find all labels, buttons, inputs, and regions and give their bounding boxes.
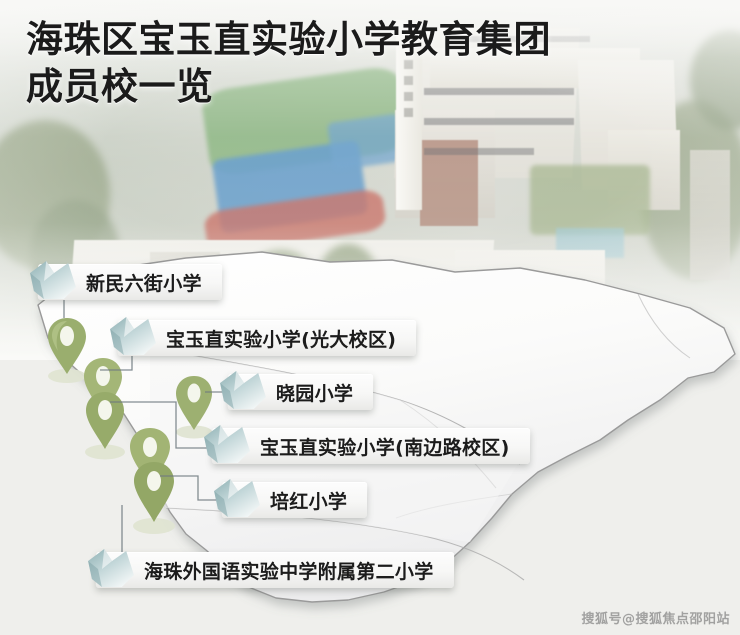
label-chip-text: 新民六街小学 xyxy=(86,269,202,296)
label-chip-text: 培红小学 xyxy=(270,487,347,514)
label-chip-xinmin[interactable]: 新民六街小学 xyxy=(38,264,222,300)
pin-hole xyxy=(96,366,110,386)
pin-hole xyxy=(98,400,112,420)
map-pin-marker[interactable] xyxy=(128,456,180,536)
label-chip-baoyuzhi-nanbianlu[interactable]: 宝玉直实验小学(南边路校区) xyxy=(212,428,530,464)
watermark: 搜狐号@搜狐焦点邵阳站 xyxy=(581,608,730,627)
ribbon-flag-icon xyxy=(228,374,274,410)
label-chip-text: 宝玉直实验小学(南边路校区) xyxy=(260,433,510,460)
ribbon-flag-icon xyxy=(38,264,84,300)
pin-hole xyxy=(143,437,157,457)
label-chip-baoyuzhi-guangda[interactable]: 宝玉直实验小学(光大校区) xyxy=(118,320,417,356)
page-title-line-1: 海珠区宝玉直实验小学教育集团 xyxy=(26,16,726,63)
ribbon-flag-icon xyxy=(212,428,258,464)
label-chip-peihong[interactable]: 培红小学 xyxy=(222,482,368,518)
label-chip-xiaoyuan[interactable]: 晓园小学 xyxy=(228,374,374,410)
page-title: 海珠区宝玉直实验小学教育集团 成员校一览 xyxy=(26,16,726,111)
label-chip-text: 宝玉直实验小学(光大校区) xyxy=(166,325,396,352)
ribbon-flag-icon xyxy=(118,320,164,356)
label-chip-text: 海珠外国语实验中学附属第二小学 xyxy=(144,557,434,584)
ribbon-flag-icon xyxy=(96,552,142,588)
ribbon-flag-icon xyxy=(222,482,268,518)
pin-hole xyxy=(147,471,161,491)
label-chip-haizhu-foreign-lang[interactable]: 海珠外国语实验中学附属第二小学 xyxy=(96,552,454,588)
map-pin-marker[interactable] xyxy=(80,386,130,462)
pin-hole xyxy=(60,326,74,346)
pin-hole xyxy=(188,384,201,403)
label-chip-text: 晓园小学 xyxy=(276,379,353,406)
page-title-line-2: 成员校一览 xyxy=(26,63,726,110)
infographic-canvas: 海珠区宝玉直实验小学教育集团 成员校一览 xyxy=(0,0,740,635)
